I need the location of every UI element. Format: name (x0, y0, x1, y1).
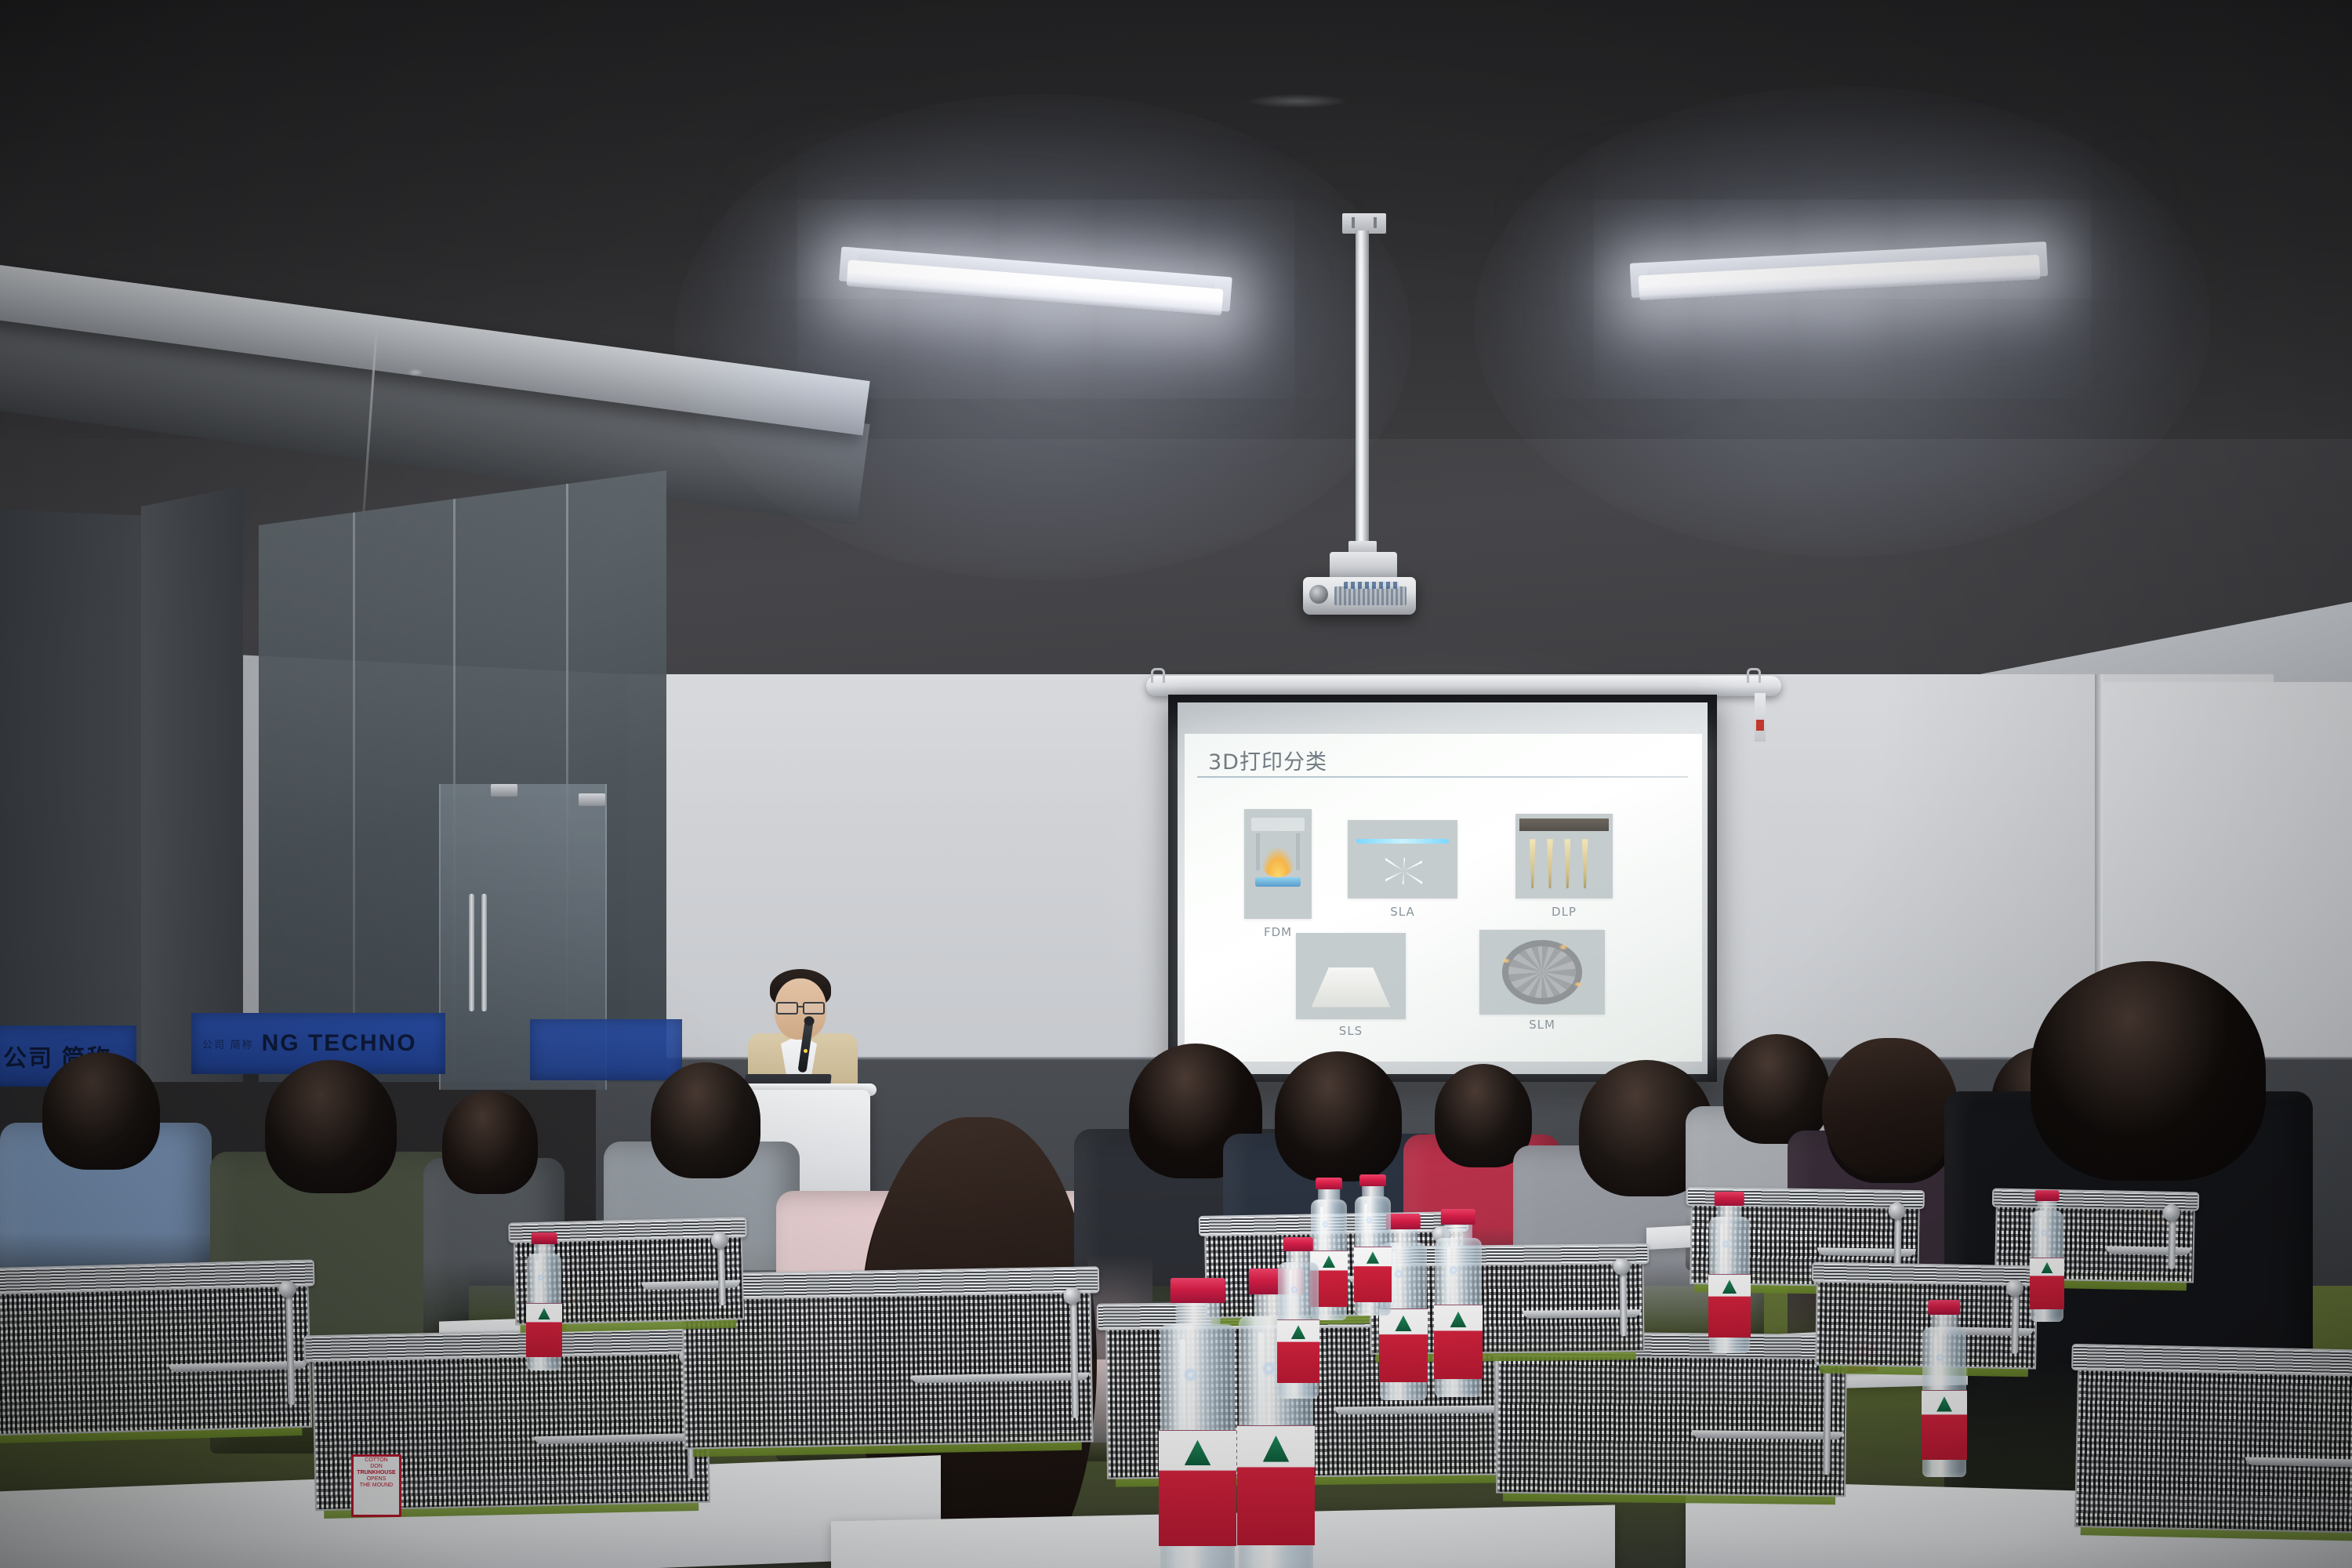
slide-item-fdm: FDM (1244, 809, 1312, 919)
attendee-hair (1275, 1051, 1402, 1181)
bottle-body (2031, 1210, 2063, 1322)
bottle-label (1277, 1319, 1319, 1383)
attendee-hair (42, 1052, 160, 1170)
patch-line-1: COTTON (354, 1457, 398, 1464)
slide-item-dlp: DLP (1515, 814, 1613, 898)
bottle-body (1355, 1196, 1391, 1316)
bottle-body (1435, 1238, 1482, 1397)
nongfu-spring-logo-icon (1936, 1396, 1952, 1411)
attendee-hair (442, 1091, 538, 1194)
banner-main-text: NG TECHNO (262, 1030, 417, 1057)
lecture-hall-photo: 公司 简称 公司 简称 NG TECHNO 3D打印分类 FDM (0, 0, 2352, 1568)
bottle-label (526, 1303, 562, 1357)
bottle-label (1237, 1425, 1315, 1545)
bottle-cap (1170, 1278, 1225, 1303)
water-bottle-right-1[interactable] (1278, 1237, 1319, 1399)
water-bottle-right-3[interactable] (1922, 1300, 1966, 1477)
nongfu-spring-logo-icon (1395, 1316, 1411, 1331)
chair-mesh-back (1496, 1353, 1846, 1497)
slide-item-slm: SLM (1479, 930, 1605, 1014)
patch-line-2: DON (354, 1464, 398, 1470)
nongfu-spring-logo-icon (1722, 1279, 1737, 1294)
bottle-neck (2037, 1201, 2056, 1210)
patch-line-3: TRUNKHOUSE (354, 1470, 398, 1476)
attendee-long-hair (1822, 1038, 1958, 1176)
bottle-glint (1322, 1221, 1329, 1228)
nongfu-spring-logo-icon (1450, 1312, 1466, 1328)
bottle-neck (1318, 1189, 1340, 1200)
water-bottle-right-2[interactable] (1709, 1192, 1750, 1353)
bottle-label (1708, 1274, 1751, 1338)
projector-yoke (1330, 552, 1397, 580)
dlp-thumbnail (1515, 814, 1613, 898)
fdm-leg (1296, 833, 1299, 871)
water-bottle-front-1[interactable] (1160, 1278, 1235, 1568)
dlp-build-plate (1519, 818, 1609, 830)
bottle-glint (1183, 1367, 1198, 1382)
water-bottle-back-2[interactable] (1355, 1174, 1391, 1316)
slide-caption-slm: SLM (1479, 1018, 1605, 1032)
projector-ports (1344, 582, 1399, 589)
bottle-glint (1261, 1361, 1276, 1376)
chair-arm-curve (2105, 1246, 2190, 1255)
slide-title-underline (1197, 776, 1688, 778)
chair-front-right[interactable] (2067, 1344, 2352, 1554)
water-bottle-mid-2[interactable] (1435, 1209, 1482, 1397)
glass-door-hinge (491, 784, 517, 797)
glass-door-hinge (579, 793, 605, 806)
bottle-cap (1359, 1174, 1386, 1186)
slide-caption-sla: SLA (1348, 905, 1457, 919)
slm-spark (1500, 959, 1512, 963)
bottle-label (2030, 1258, 2064, 1309)
bottle-neck (1362, 1186, 1384, 1196)
bottle-neck (534, 1244, 554, 1254)
bottle-label (1159, 1430, 1236, 1547)
bottle-neck (1717, 1206, 1741, 1217)
ceiling-fixture-dot (408, 368, 423, 376)
banner-subtext: 公司 简称 (202, 1036, 254, 1051)
fdm-leg (1256, 833, 1259, 871)
bottle-neck (1389, 1229, 1417, 1243)
slide-item-sla: SLA (1348, 820, 1457, 898)
nongfu-spring-logo-icon (2042, 1262, 2053, 1273)
door-handle-bar[interactable] (481, 894, 487, 1011)
jacket-brand-patch: COTTON DON TRUNKHOUSE OPENS THE MOUND (351, 1454, 401, 1517)
slm-thumbnail (1479, 930, 1605, 1014)
wall-column-left (141, 486, 243, 1082)
ceiling-projector (1303, 577, 1416, 615)
dlp-resin-part (1544, 839, 1555, 888)
nongfu-spring-logo-icon (1263, 1436, 1290, 1462)
bottle-cap (532, 1232, 557, 1244)
bottle-body (1709, 1217, 1750, 1353)
bottle-neck (1175, 1303, 1220, 1324)
nongfu-spring-logo-icon (1367, 1251, 1379, 1263)
slide-caption-sls: SLS (1296, 1024, 1406, 1038)
sla-laser-beam (1356, 839, 1449, 844)
sls-thumbnail (1296, 933, 1406, 1019)
bottle-cap (2034, 1190, 2059, 1201)
fdm-thumbnail (1244, 809, 1312, 919)
bottle-glint (1449, 1265, 1458, 1275)
nongfu-spring-logo-icon (538, 1308, 550, 1319)
roller-hook-left (1151, 668, 1165, 683)
chair-pivot-knob[interactable] (1613, 1258, 1630, 1275)
glass-mullion (353, 470, 355, 1082)
slide-caption-dlp: DLP (1515, 905, 1613, 919)
sla-part-shape (1385, 858, 1423, 884)
slm-spark (1572, 982, 1584, 986)
projector-vent (1334, 586, 1406, 605)
nongfu-spring-logo-icon (1185, 1440, 1211, 1465)
bottle-neck (1286, 1251, 1310, 1262)
bottle-cap (1441, 1209, 1475, 1225)
bottle-glint (537, 1274, 544, 1281)
sla-thumbnail (1348, 820, 1457, 898)
bottle-glint (1290, 1286, 1298, 1294)
patch-line-4: OPENS (354, 1476, 398, 1483)
projector-lens-icon (1309, 585, 1328, 604)
roller-hook-right (1747, 668, 1761, 683)
bottle-neck (1444, 1225, 1472, 1238)
slm-spark (1557, 945, 1570, 949)
bottle-body (1922, 1327, 1966, 1477)
bottle-glint (2041, 1229, 2047, 1236)
screen-pull-tag[interactable] (1755, 693, 1766, 742)
projection-screen-roller[interactable] (1146, 676, 1781, 696)
bottle-cap (1283, 1237, 1313, 1251)
bottle-cap (1928, 1300, 1960, 1315)
fdm-gantry (1251, 818, 1305, 831)
slm-metal-part (1502, 940, 1582, 1004)
bottle-glint (1722, 1240, 1730, 1248)
dlp-resin-part (1563, 839, 1573, 888)
bottle-label (1354, 1247, 1392, 1302)
bottle-body (1278, 1262, 1319, 1399)
patch-line-5: THE MOUND (354, 1483, 398, 1489)
attendee-hair (2031, 961, 2266, 1181)
chair-front-left-1[interactable] (0, 1260, 316, 1465)
bottle-cap (1715, 1192, 1744, 1206)
chair-mesh-back (2074, 1367, 2352, 1534)
projected-slide: 3D打印分类 FDM SLA (1185, 734, 1702, 1062)
bottle-neck (1931, 1315, 1958, 1327)
sls-powder-bed (1312, 967, 1391, 1007)
bottle-cap (1316, 1178, 1342, 1189)
dlp-resin-part (1580, 839, 1591, 888)
nongfu-spring-logo-icon (1323, 1255, 1335, 1268)
blue-banner-right (530, 1019, 682, 1080)
attendee-hair (265, 1060, 397, 1193)
wall-column-far-left (0, 502, 149, 1082)
bottle-body (527, 1254, 561, 1370)
projector-mount-pole (1356, 230, 1369, 560)
slide-title: 3D打印分类 (1208, 745, 1327, 775)
bottle-glint (1936, 1353, 1944, 1362)
bottle-body (1160, 1324, 1235, 1568)
chair-arm-curve (1817, 1247, 1916, 1257)
bottle-cap (1386, 1214, 1421, 1229)
chair-mesh-back (0, 1283, 312, 1436)
water-bottle-left-1[interactable] (527, 1232, 561, 1370)
bottle-label (1922, 1390, 1967, 1460)
bottle-label (1379, 1308, 1428, 1382)
door-handle-bar[interactable] (469, 894, 474, 1011)
dlp-resin-part (1527, 839, 1538, 888)
nongfu-spring-logo-icon (1291, 1325, 1305, 1339)
ceiling-reflection (1247, 94, 1348, 108)
bottle-label (1434, 1305, 1483, 1378)
water-bottle-far-1[interactable] (2031, 1190, 2063, 1322)
attendee-hair (651, 1062, 760, 1178)
slide-item-sls: SLS (1296, 933, 1406, 1019)
